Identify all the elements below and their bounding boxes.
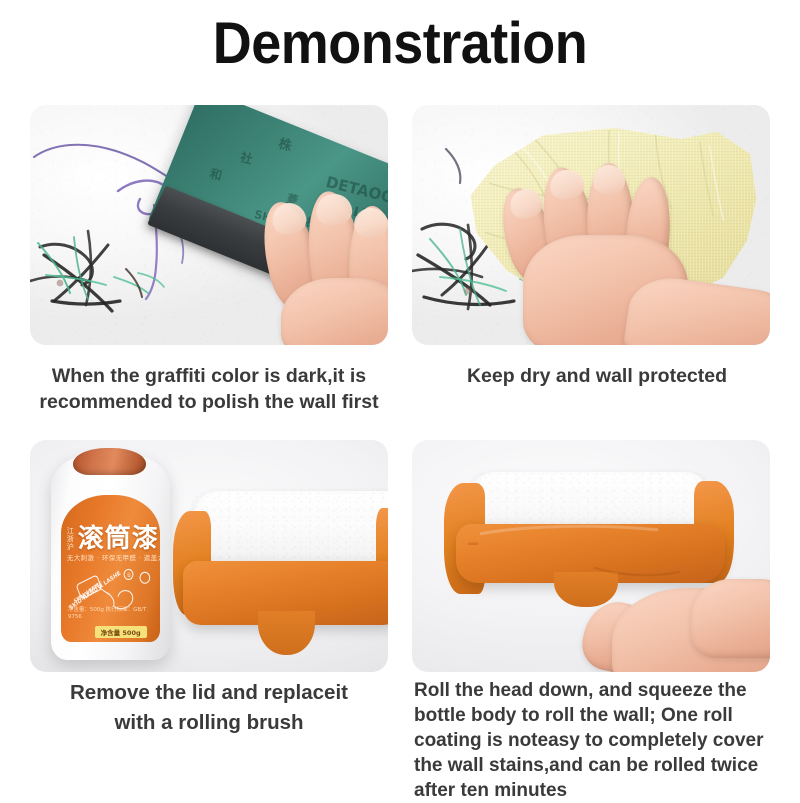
step-4-photo (412, 440, 770, 672)
page-title: Demonstration (28, 12, 772, 76)
demonstration-page: Demonstration (0, 0, 800, 800)
bottle-label: 江浙沪 滚筒漆 无大刺激 · 环保无甲醛 · 遮盖力强 · 超强附着力 ① (61, 495, 160, 642)
step-4-caption: Roll the head down, and squeeze the bott… (414, 678, 792, 803)
label-product-name: 滚筒漆 (78, 526, 159, 552)
paint-bottle: 江浙沪 滚筒漆 无大刺激 · 环保无甲醛 · 遮盖力强 · 超强附着力 ① (51, 456, 169, 660)
bottle-cap (73, 448, 146, 475)
palm (281, 278, 388, 345)
step-panel-1: DETAOC LED 株 社 和 菱 株 SHS 9 O/H 151 (30, 105, 388, 345)
step-panel-3: 江浙沪 滚筒漆 无大刺激 · 环保无甲醛 · 遮盖力强 · 超强附着力 ① (30, 440, 388, 672)
step-panel-4 (412, 440, 770, 672)
roller-neck-connector (554, 572, 618, 607)
roller-brush-head (444, 472, 734, 607)
step-3-photo: 江浙沪 滚筒漆 无大刺激 · 环保无甲醛 · 遮盖力强 · 超强附着力 ① (30, 440, 388, 672)
step-1-photo: DETAOC LED 株 社 和 菱 株 SHS 9 O/H 151 (30, 105, 388, 345)
step-1-caption: When the graffiti color is dark,it is re… (16, 363, 402, 415)
roller-neck-connector (258, 611, 315, 654)
label-footer-text: 净含量：500g 执行标准：GB/T 9756 (68, 607, 153, 621)
roller-brush-head (173, 491, 388, 658)
fingernail-ring (354, 208, 388, 238)
knuckles (691, 579, 770, 658)
svg-text:①: ① (126, 573, 131, 579)
label-brand-mark: 江浙沪 (67, 527, 78, 551)
svg-text:株: 株 (277, 134, 295, 154)
step-panel-2 (412, 105, 770, 345)
svg-text:和: 和 (207, 165, 223, 183)
svg-text:社: 社 (238, 149, 254, 167)
step-2-caption: Keep dry and wall protected (404, 363, 790, 389)
label-weight-badge: 净含量 500g (95, 626, 147, 638)
step-2-photo (412, 105, 770, 345)
step-3-caption: Remove the lid and replaceit with a roll… (16, 678, 402, 738)
